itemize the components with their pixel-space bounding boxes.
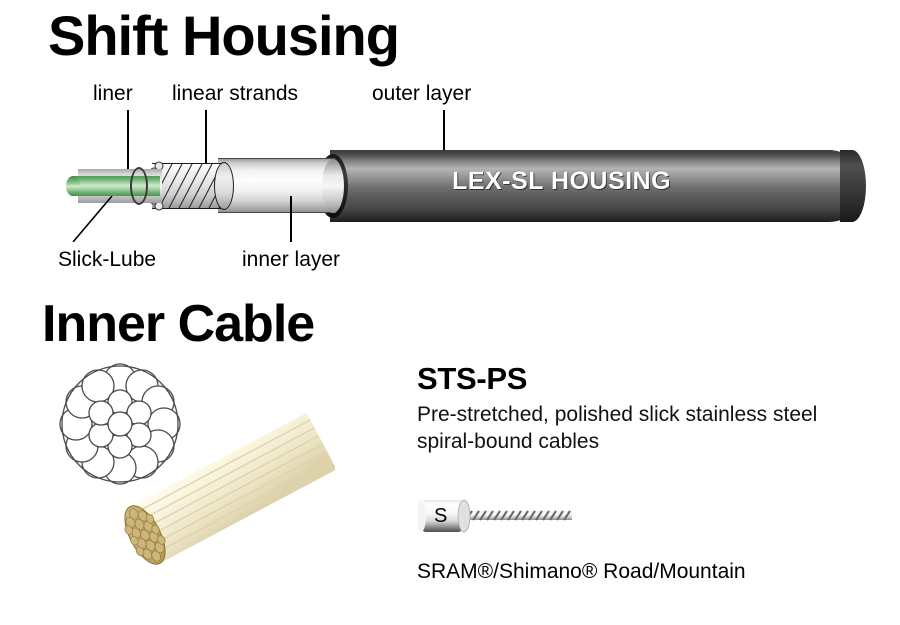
callout-label-outer-layer: outer layer — [372, 82, 471, 106]
diagram-canvas: Shift Housing liner linear strands outer… — [0, 0, 900, 625]
inner-cable-title: Inner Cable — [42, 298, 314, 350]
linear-strands-end-face — [214, 162, 234, 210]
callout-label-inner-layer: inner layer — [242, 248, 340, 272]
inner-layer-top-edge — [218, 158, 336, 159]
housing-brand-text: LEX-SL HOUSING — [452, 167, 671, 196]
outer-layer-end-cap — [840, 150, 866, 222]
callout-label-linear-strands: linear strands — [172, 82, 298, 106]
liner-cut-ring — [130, 167, 148, 205]
inner-layer-cut-edge — [322, 159, 344, 213]
callout-label-slick-lube: Slick-Lube — [58, 248, 156, 272]
cable-body-cylinder — [116, 413, 335, 571]
shift-housing-cutaway-illustration: LEX-SL HOUSING — [0, 140, 900, 240]
leader-line-inner-layer — [290, 196, 292, 242]
callout-label-liner: liner — [93, 82, 133, 106]
cable-wire-segment — [462, 511, 572, 520]
slick-lube-tip-face — [66, 176, 80, 196]
cable-compatibility-caption: SRAM®/Shimano® Road/Mountain — [417, 560, 746, 584]
nipple-mark-letter: S — [434, 505, 447, 527]
inner-layer-sheath — [218, 159, 333, 213]
shift-housing-title: Shift Housing — [48, 8, 399, 64]
inner-cable-3d-illustration — [105, 410, 335, 585]
cable-end-fitting-illustration: S — [418, 492, 588, 542]
inner-layer-bottom-edge — [218, 212, 336, 213]
cable-description: Pre-stretched, polished slick stainless … — [417, 401, 857, 455]
cable-model-heading: STS-PS — [417, 361, 527, 397]
leader-line-slick-lube — [70, 196, 115, 242]
